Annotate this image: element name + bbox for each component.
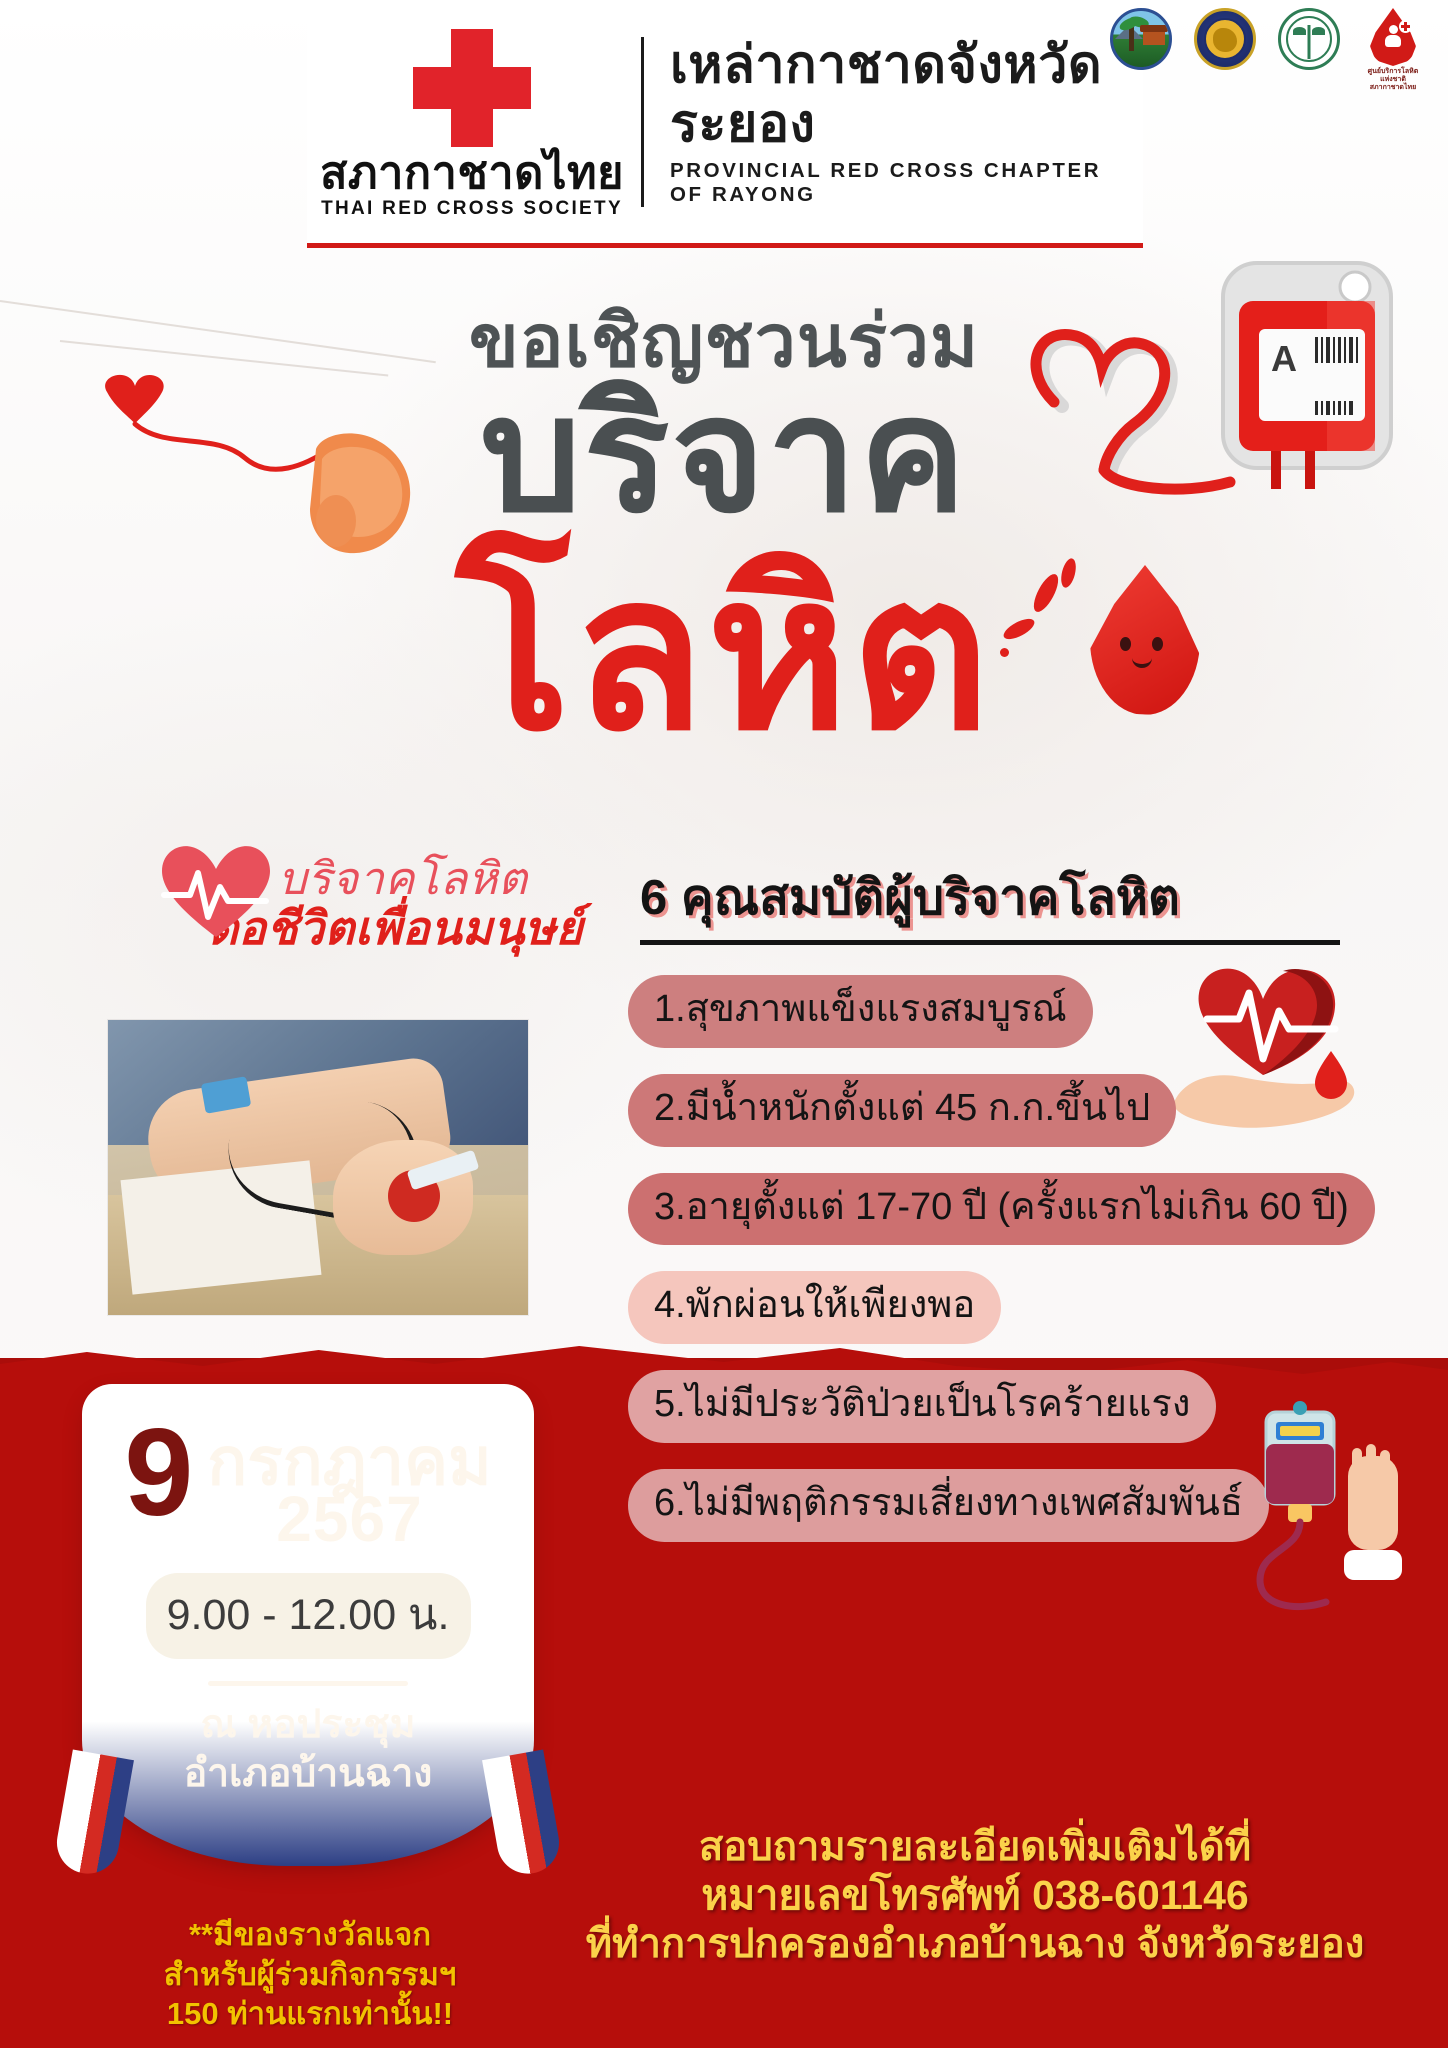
chapter-name-thai: เหล่ากาชาดจังหวัดระยอง — [670, 36, 1143, 152]
slogan-block: บริจาคโลหิต ต่อชีวิตเพื่อนมนุษย์ — [160, 855, 600, 953]
event-date-shield: 9 กรกฎาคม 2567 9.00 - 12.00 น. ณ หอประชุ… — [88, 1390, 528, 1860]
iv-bag-fist-icon — [1240, 1400, 1405, 1640]
venue-line-2: อำเภอบ้านฉาง — [88, 1749, 528, 1798]
prize-note-line-3: 150 ท่านแรกเท่านั้น!! — [100, 1994, 520, 2034]
qualifications-heading: 6 คุณสมบัติผู้บริจาคโลหิต — [640, 858, 1340, 945]
event-day: 9 — [124, 1416, 193, 1530]
thai-red-cross-logo: สภากาชาดไทย THAI RED CROSS SOCIETY — [307, 0, 637, 243]
ban-chang-district-seal-icon — [1194, 8, 1256, 70]
qualification-item: 2.มีน้ำหนักตั้งแต่ 45 ก.ก.ขึ้นไป — [628, 1074, 1176, 1147]
splash-icon — [1000, 648, 1009, 657]
poster-header: สภากาชาดไทย THAI RED CROSS SOCIETY เหล่า… — [307, 0, 1143, 248]
event-time: 9.00 - 12.00 น. — [146, 1573, 471, 1659]
heart-ecg-icon — [160, 843, 272, 941]
contact-line-3: ที่ทำการปกครองอำเภอบ้านฉาง จังหวัดระยอง — [530, 1920, 1420, 1968]
partner-logo-strip: ศูนย์บริการโลหิตแห่งชาติ สภากาชาดไทย — [1110, 8, 1424, 92]
qualification-item: 5.ไม่มีประวัติป่วยเป็นโรคร้ายแรง — [628, 1370, 1216, 1443]
contact-line-1: สอบถามรายละเอียดเพิ่มเติมได้ที่ — [530, 1823, 1420, 1871]
title-blood: โลหิต — [0, 545, 1448, 760]
chapter-block: เหล่ากาชาดจังหวัดระยอง PROVINCIAL RED CR… — [664, 36, 1143, 206]
prize-note-line-1: **มีของรางวัลแจก — [100, 1915, 520, 1955]
qualification-item: 6.ไม่มีพฤติกรรมเสี่ยงทางเพศสัมพันธ์ — [628, 1469, 1269, 1542]
qualification-item: 1.สุขภาพแข็งแรงสมบูรณ์ — [628, 975, 1093, 1048]
blood-donation-poster: สภากาชาดไทย THAI RED CROSS SOCIETY เหล่า… — [0, 0, 1448, 2048]
blood-centre-caption: ศูนย์บริการโลหิตแห่งชาติ สภากาชาดไทย — [1362, 68, 1424, 92]
ministry-of-public-health-seal-icon — [1278, 8, 1340, 70]
slogan-line-1: บริจาคโลหิต — [278, 855, 600, 902]
chapter-name-english: PROVINCIAL RED CROSS CHAPTER OF RAYONG — [670, 159, 1143, 207]
header-divider — [641, 37, 644, 207]
qualification-item: 4.พักผ่อนให้เพียงพอ — [628, 1271, 1001, 1344]
prize-note: **มีของรางวัลแจก สำหรับผู้ร่วมกิจกรรมฯ 1… — [100, 1915, 520, 2034]
red-cross-icon — [413, 29, 531, 147]
venue-line-1: ณ หอประชุม — [88, 1700, 528, 1749]
prize-note-line-2: สำหรับผู้ร่วมกิจกรรมฯ — [100, 1955, 520, 1995]
contact-line-2: หมายเลขโทรศัพท์ 038-601146 — [530, 1871, 1420, 1920]
qualification-item: 3.อายุตั้งแต่ 17-70 ปี (ครั้งแรกไม่เกิน … — [628, 1173, 1375, 1246]
national-blood-centre-drop-icon: ศูนย์บริการโลหิตแห่งชาติ สภากาชาดไทย — [1362, 8, 1424, 92]
contact-block: สอบถามรายละเอียดเพิ่มเติมได้ที่ หมายเลขโ… — [530, 1823, 1420, 1968]
blood-donation-photo — [108, 1020, 528, 1315]
cute-blood-drop-icon — [1090, 565, 1200, 715]
org-name-english: THAI RED CROSS SOCIETY — [321, 198, 623, 220]
title-donate: บริจาค — [0, 375, 1448, 535]
shield-divider — [208, 1681, 408, 1686]
org-name-thai: สภากาชาดไทย — [320, 149, 624, 196]
rayong-province-seal-icon — [1110, 8, 1172, 70]
